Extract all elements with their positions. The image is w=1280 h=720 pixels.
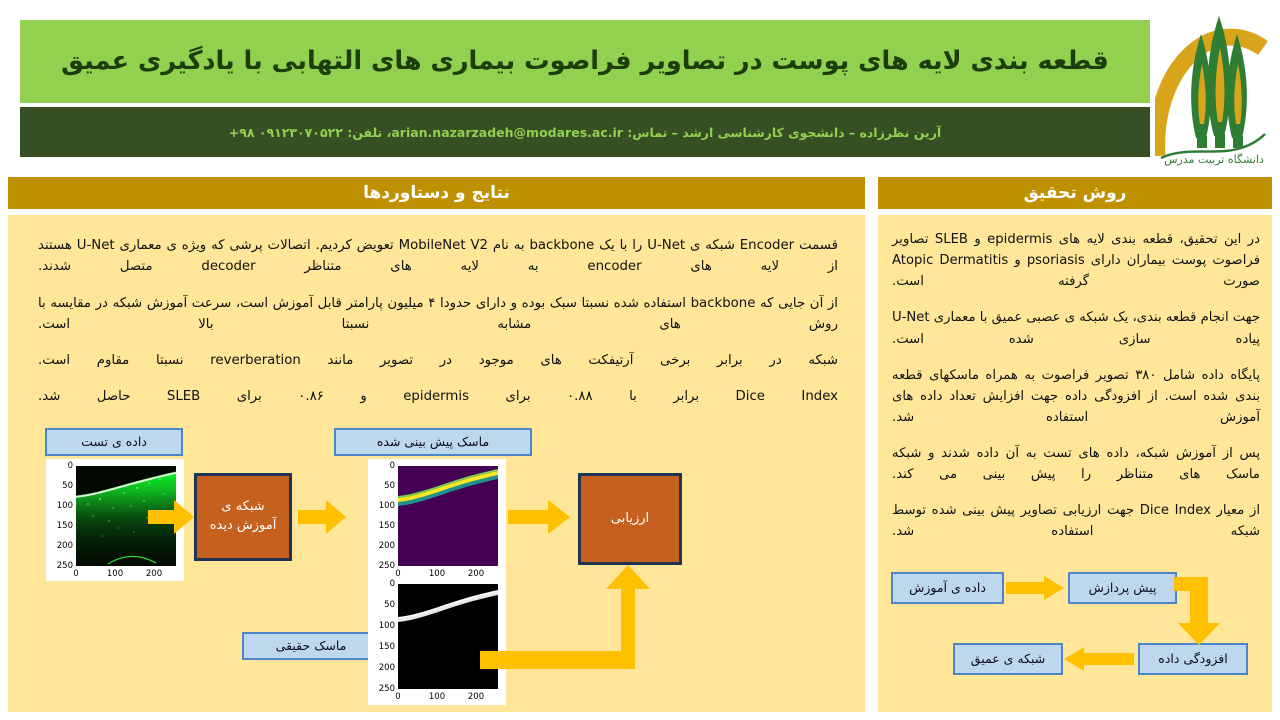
- box-evaluation: ارزیابی: [578, 473, 682, 565]
- arrow-mask-to-evaluation-icon: [508, 500, 570, 534]
- arrow-training-to-preprocessing-icon: [1006, 576, 1064, 600]
- flow-node-deep-network: شبکه ی عمیق: [953, 643, 1063, 675]
- xtick: 200: [468, 692, 484, 702]
- method-paragraph-4: پس از آموزش شبکه، داده های تست به آن داد…: [892, 443, 1260, 485]
- method-text-block: در این تحقیق، قطعه بندی لایه های epiderm…: [892, 229, 1260, 558]
- arrow-test-to-network-icon: [148, 500, 194, 534]
- tarbiat-modares-logo-icon: دانشگاه تربیت مدرس: [1155, 6, 1273, 166]
- ytick: 250: [379, 684, 395, 694]
- poster-title-band: قطعه بندی لایه های پوست در تصاویر فراصوت…: [20, 20, 1150, 103]
- box-trained-network: شبکه ی آموزش دیده: [194, 473, 292, 561]
- poster-canvas: قطعه بندی لایه های پوست در تصاویر فراصوت…: [0, 0, 1280, 720]
- method-panel: در این تحقیق، قطعه بندی لایه های epiderm…: [878, 215, 1272, 712]
- phone-label: ، تلفن:: [343, 125, 392, 140]
- method-paragraph-5: از معیار Dice Index جهت ارزیابی تصاویر پ…: [892, 500, 1260, 542]
- flow-node-training-data: داده ی آموزش: [891, 572, 1004, 604]
- results-text-block: قسمت Encoder شبکه ی U-Net را با یک backb…: [38, 235, 838, 423]
- author-phone: ۰۹۱۲۳۰۷۰۵۲۲ ۹۸+: [229, 125, 343, 140]
- ytick: 100: [379, 621, 395, 631]
- results-panel: قسمت Encoder شبکه ی U-Net را با یک backb…: [8, 215, 865, 712]
- university-logo: دانشگاه تربیت مدرس: [1155, 6, 1273, 166]
- ytick: 0: [68, 461, 73, 471]
- ytick: 200: [57, 541, 73, 551]
- method-paragraph-3: پایگاه داده شامل ۳۸۰ تصویر فراصوت به همر…: [892, 365, 1260, 428]
- arrow-network-to-mask-icon: [298, 500, 346, 534]
- ytick: 100: [379, 501, 395, 511]
- label-true-mask: ماسک حقیقی: [242, 632, 380, 660]
- ytick: 50: [62, 481, 73, 491]
- arrow-truemask-to-evaluation-icon: [480, 565, 650, 671]
- ytick: 100: [57, 501, 73, 511]
- page-title: قطعه بندی لایه های پوست در تصاویر فراصوت…: [61, 44, 1109, 78]
- section-header-results: نتایج و دستاوردها: [8, 177, 865, 209]
- results-paragraph-3: شبکه در برابر برخی آرتیفکت های موجود در …: [38, 350, 838, 371]
- arrow-preprocessing-to-augmentation-icon: [1174, 575, 1220, 645]
- method-paragraph-2: جهت انجام قطعه بندی، یک شبکه ی عصبی عمیق…: [892, 307, 1260, 349]
- arrow-augmentation-to-network-icon: [1064, 647, 1134, 671]
- xtick: 0: [73, 569, 78, 579]
- section-header-method: روش تحقیق: [878, 177, 1272, 209]
- xtick: 200: [146, 569, 162, 579]
- method-paragraph-1: در این تحقیق، قطعه بندی لایه های epiderm…: [892, 229, 1260, 292]
- ytick: 50: [384, 600, 395, 610]
- ytick: 0: [390, 461, 395, 471]
- ytick: 150: [379, 642, 395, 652]
- poster-authors-band: آرین نظرزاده – دانشجوی کارشناسی ارشد – ت…: [20, 107, 1150, 157]
- results-paragraph-4: Dice Index برابر با ۰.۸۸ برای epidermis …: [38, 386, 838, 407]
- flow-node-preprocessing: پیش پردازش: [1068, 572, 1177, 604]
- xtick: 0: [395, 692, 400, 702]
- author-contact-line: آرین نظرزاده – دانشجوی کارشناسی ارشد – ت…: [229, 125, 941, 140]
- xtick: 100: [107, 569, 123, 579]
- ytick: 200: [379, 541, 395, 551]
- figure-predicted-mask: 0 50 100 150 200 250 0 100 200: [368, 459, 506, 581]
- label-predicted-mask: ماسک پیش بینی شده: [334, 428, 532, 456]
- logo-caption-text: دانشگاه تربیت مدرس: [1164, 153, 1264, 166]
- ytick: 150: [57, 521, 73, 531]
- author-email[interactable]: arian.nazarzadeh@modares.ac.ir: [391, 125, 623, 140]
- box-trained-network-label: شبکه ی آموزش دیده: [210, 498, 277, 536]
- ytick: 150: [379, 521, 395, 531]
- flow-node-augmentation: افزودگی داده: [1138, 643, 1248, 675]
- ytick: 250: [379, 561, 395, 571]
- ytick: 250: [57, 561, 73, 571]
- author-name-role: آرین نظرزاده – دانشجوی کارشناسی ارشد – ت…: [623, 125, 941, 140]
- ytick: 200: [379, 663, 395, 673]
- label-test-data: داده ی تست: [45, 428, 183, 456]
- results-paragraph-2: از آن جایی که backbone استفاده شده نسبتا…: [38, 293, 838, 336]
- results-paragraph-1: قسمت Encoder شبکه ی U-Net را با یک backb…: [38, 235, 838, 278]
- predicted-mask-tick-layer: 0 50 100 150 200 250 0 100 200: [398, 466, 498, 566]
- ytick: 0: [390, 579, 395, 589]
- xtick: 100: [429, 692, 445, 702]
- ytick: 50: [384, 481, 395, 491]
